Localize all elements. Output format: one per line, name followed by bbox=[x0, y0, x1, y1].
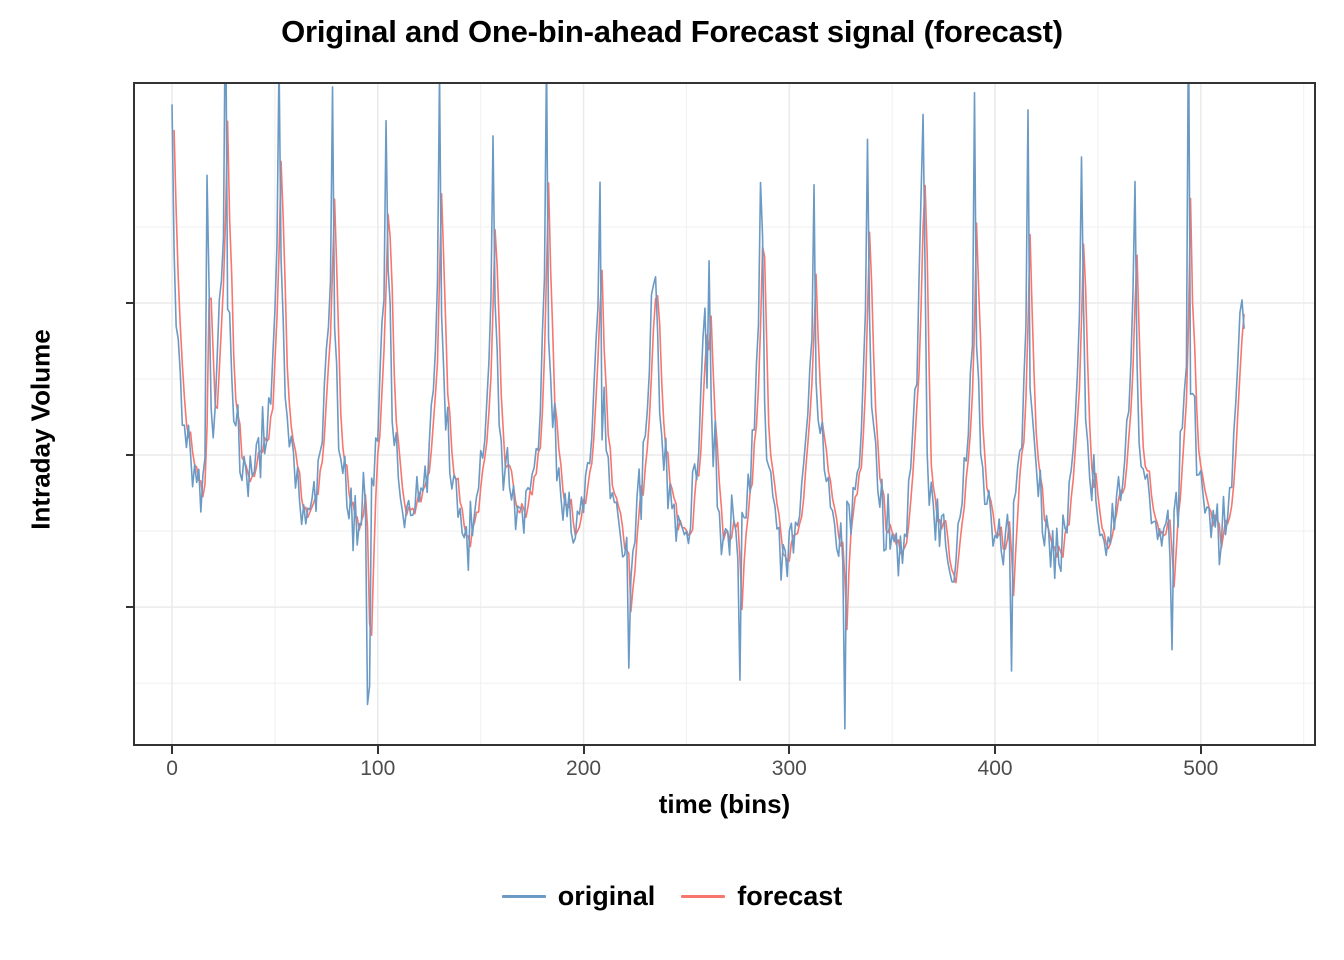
x-tick-label: 500 bbox=[1151, 757, 1251, 781]
chart-figure: Original and One-bin-ahead Forecast sign… bbox=[0, 0, 1344, 960]
x-tick-mark bbox=[583, 746, 585, 754]
legend-item-original[interactable]: original bbox=[502, 881, 656, 912]
x-tick-label: 200 bbox=[534, 757, 634, 781]
x-tick-mark bbox=[788, 746, 790, 754]
x-tick-label: 400 bbox=[945, 757, 1045, 781]
x-tick-mark bbox=[377, 746, 379, 754]
legend-label: forecast bbox=[737, 881, 842, 912]
legend-label: original bbox=[558, 881, 656, 912]
legend-line-icon bbox=[681, 895, 725, 898]
chart-legend: originalforecast bbox=[0, 866, 1344, 926]
x-tick-label: 0 bbox=[122, 757, 222, 781]
x-tick-mark bbox=[994, 746, 996, 754]
x-tick-mark bbox=[1200, 746, 1202, 754]
legend-line-icon bbox=[502, 895, 546, 898]
x-tick-mark bbox=[171, 746, 173, 754]
x-tick-label: 300 bbox=[739, 757, 839, 781]
legend-item-forecast[interactable]: forecast bbox=[681, 881, 842, 912]
x-tick-label: 100 bbox=[328, 757, 428, 781]
x-axis-title: time (bins) bbox=[133, 789, 1316, 820]
